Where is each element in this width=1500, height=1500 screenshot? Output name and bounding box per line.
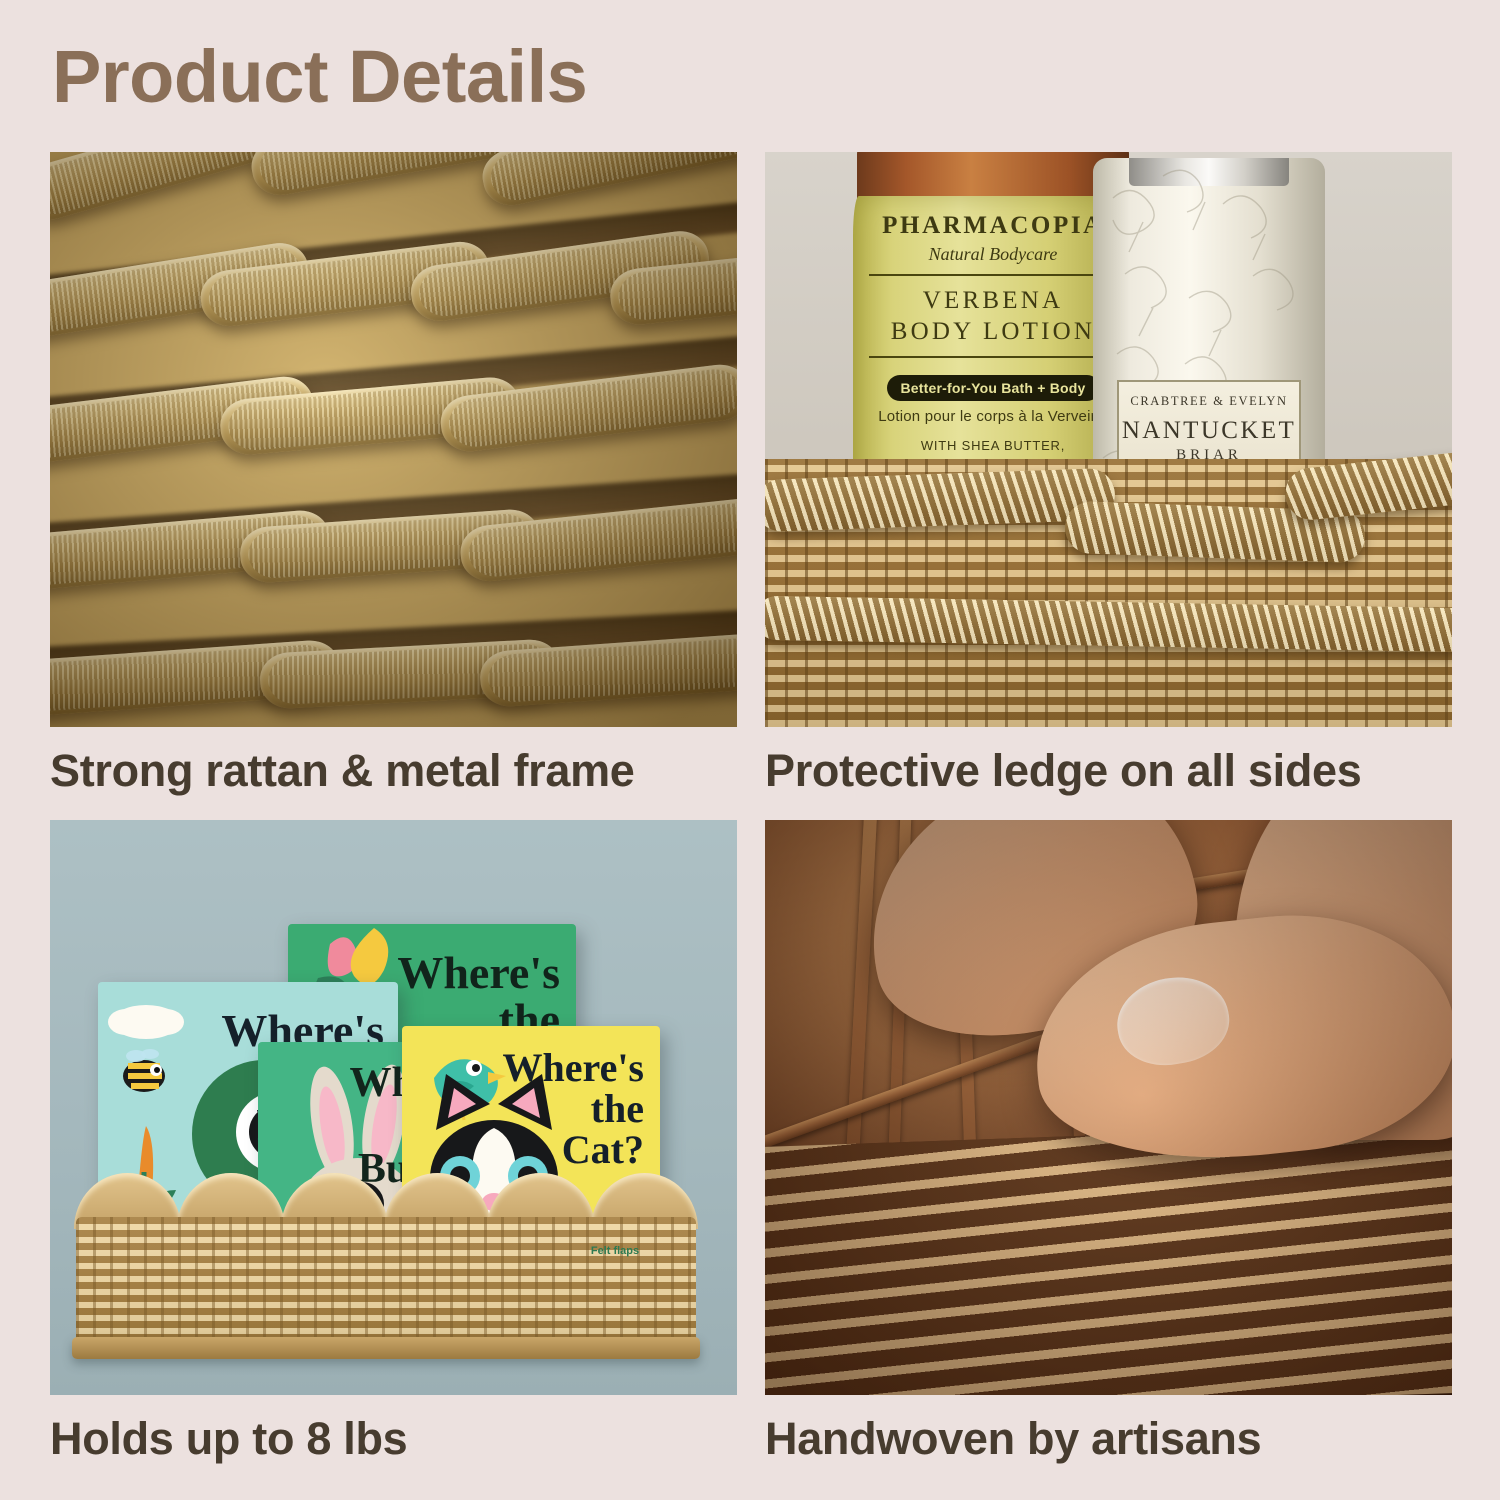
book-title-cat: Where's the Cat? <box>503 1048 644 1170</box>
lotion-brand: PHARMACOPIA <box>853 212 1133 240</box>
feature-caption: Protective ledge on all sides <box>765 745 1452 797</box>
rattan-wall-shelf <box>76 1199 696 1347</box>
feature-caption: Holds up to 8 lbs <box>50 1413 737 1465</box>
feature-card-weight-capacity[interactable]: Where's the <box>50 820 737 1465</box>
photo-vignette <box>765 820 1452 1395</box>
shelf-base-rail <box>72 1337 700 1359</box>
feature-card-handwoven[interactable]: Handwoven by artisans <box>765 820 1452 1465</box>
feature-caption: Handwoven by artisans <box>765 1413 1452 1465</box>
lotion-brand-subtitle: Natural Bodycare <box>853 244 1133 265</box>
shelf-woven-body <box>76 1217 696 1347</box>
feature-caption: Strong rattan & metal frame <box>50 745 737 797</box>
page-title: Product Details <box>52 38 587 116</box>
photo-rattan-weave-macro <box>50 152 737 727</box>
photo-hand-weaving-rattan <box>765 820 1452 1395</box>
felt-flaps-badge-label: Felt flaps <box>591 1245 639 1257</box>
lotion-product-line-2: BODY LOTION <box>853 316 1133 347</box>
photo-vignette <box>50 152 737 727</box>
photo-basket-with-bottles: PHARMACOPIA Natural Bodycare VERBENA BOD… <box>765 152 1452 727</box>
feature-card-protective-ledge[interactable]: PHARMACOPIA Natural Bodycare VERBENA BOD… <box>765 152 1452 797</box>
label-divider <box>869 356 1117 358</box>
feature-card-rattan-metal-frame[interactable]: Strong rattan & metal frame <box>50 152 737 797</box>
label-divider <box>869 274 1117 276</box>
lotion-badge: Better-for-You Bath + Body <box>887 375 1100 401</box>
powder-brand: CRABTREE & EVELYN <box>1119 394 1299 409</box>
feature-grid: Strong rattan & metal frame PHARMACOPIA … <box>50 152 1452 1452</box>
bee-icon <box>123 1049 165 1092</box>
powder-product-line-1: NANTUCKET <box>1119 417 1299 445</box>
product-details-infographic: Product Details <box>0 0 1500 1500</box>
lotion-product-line-1: VERBENA <box>853 285 1133 316</box>
photo-books-on-shelf: Where's the <box>50 820 737 1395</box>
lotion-french-description: Lotion pour le corps à la Verveine <box>853 408 1133 425</box>
